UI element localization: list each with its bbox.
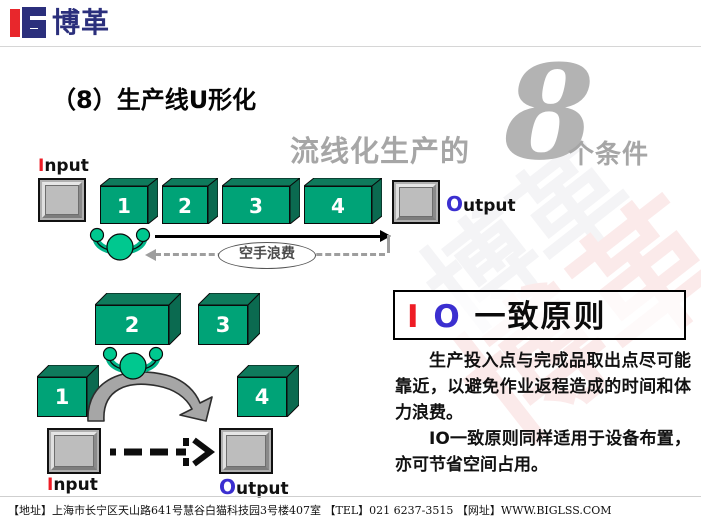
u-input-label: Input: [47, 475, 98, 495]
flow-box-number: 3: [222, 194, 290, 218]
footer-divider: [0, 496, 701, 497]
principle-title: I O 一致原则: [407, 295, 607, 339]
u-shape-layout-diagram: 2 3 1 4: [0, 285, 370, 500]
company-logo: 博革: [10, 7, 122, 39]
u-process-box-2: 2: [95, 293, 181, 345]
flow-process-box-3: 3: [222, 178, 300, 224]
u-operator-figure-icon: [101, 345, 165, 385]
u-process-box-3: 3: [198, 293, 260, 345]
operator-figure-icon: [88, 226, 152, 266]
flow-input-label: Input: [38, 156, 89, 176]
flow-input-station: [38, 178, 86, 222]
waste-callout: 空手浪费: [218, 242, 316, 269]
flow-box-number: 4: [304, 194, 372, 218]
flow-box-number: 2: [162, 194, 208, 218]
slide-header: 博革: [0, 0, 701, 46]
flow-arrow-end-tick: [387, 235, 390, 253]
io-proximity-arrow: [106, 430, 222, 474]
flow-box-number: 1: [100, 194, 148, 218]
straight-line-flow-diagram: Input 1 2: [0, 150, 560, 275]
flow-output-station: [392, 180, 440, 224]
header-divider: [0, 46, 701, 47]
principle-paragraph-1: 生产投入点与完成品取出点尽可能靠近，以避免作业返程造成的时间和体力浪费。: [395, 348, 691, 426]
principle-description: 生产投入点与完成品取出点尽可能靠近，以避免作业返程造成的时间和体力浪费。 IO一…: [395, 348, 691, 478]
condition-heading-suffix: 个条件: [568, 134, 649, 171]
flow-output-label: Output: [446, 192, 516, 216]
logo-wordmark: 博革: [52, 8, 110, 38]
u-box-number: 2: [95, 313, 169, 337]
forward-flow-arrow: [155, 235, 390, 238]
principle-paragraph-2: IO一致原则同样适用于设备布置，亦可节省空间占用。: [395, 426, 691, 478]
flow-process-box-4: 4: [304, 178, 382, 224]
flow-process-box-2: 2: [162, 178, 218, 224]
flow-process-box-1: 1: [100, 178, 158, 224]
u-box-number: 3: [198, 313, 248, 337]
principle-title-box: I O 一致原则: [393, 290, 686, 340]
u-input-station: [47, 428, 101, 474]
slide-canvas: 博革 博革 博革 （8）生产线U形化 流线化生产的 8 个条件 Input: [0, 0, 701, 525]
footer-contact: 【地址】上海市长宁区天山路641号慧谷白猫科技园3号楼407室 【TEL】021…: [8, 502, 698, 518]
u-output-station: [219, 428, 273, 474]
page-title: （8）生产线U形化: [52, 80, 256, 115]
bg-logo-icon: [10, 7, 46, 38]
